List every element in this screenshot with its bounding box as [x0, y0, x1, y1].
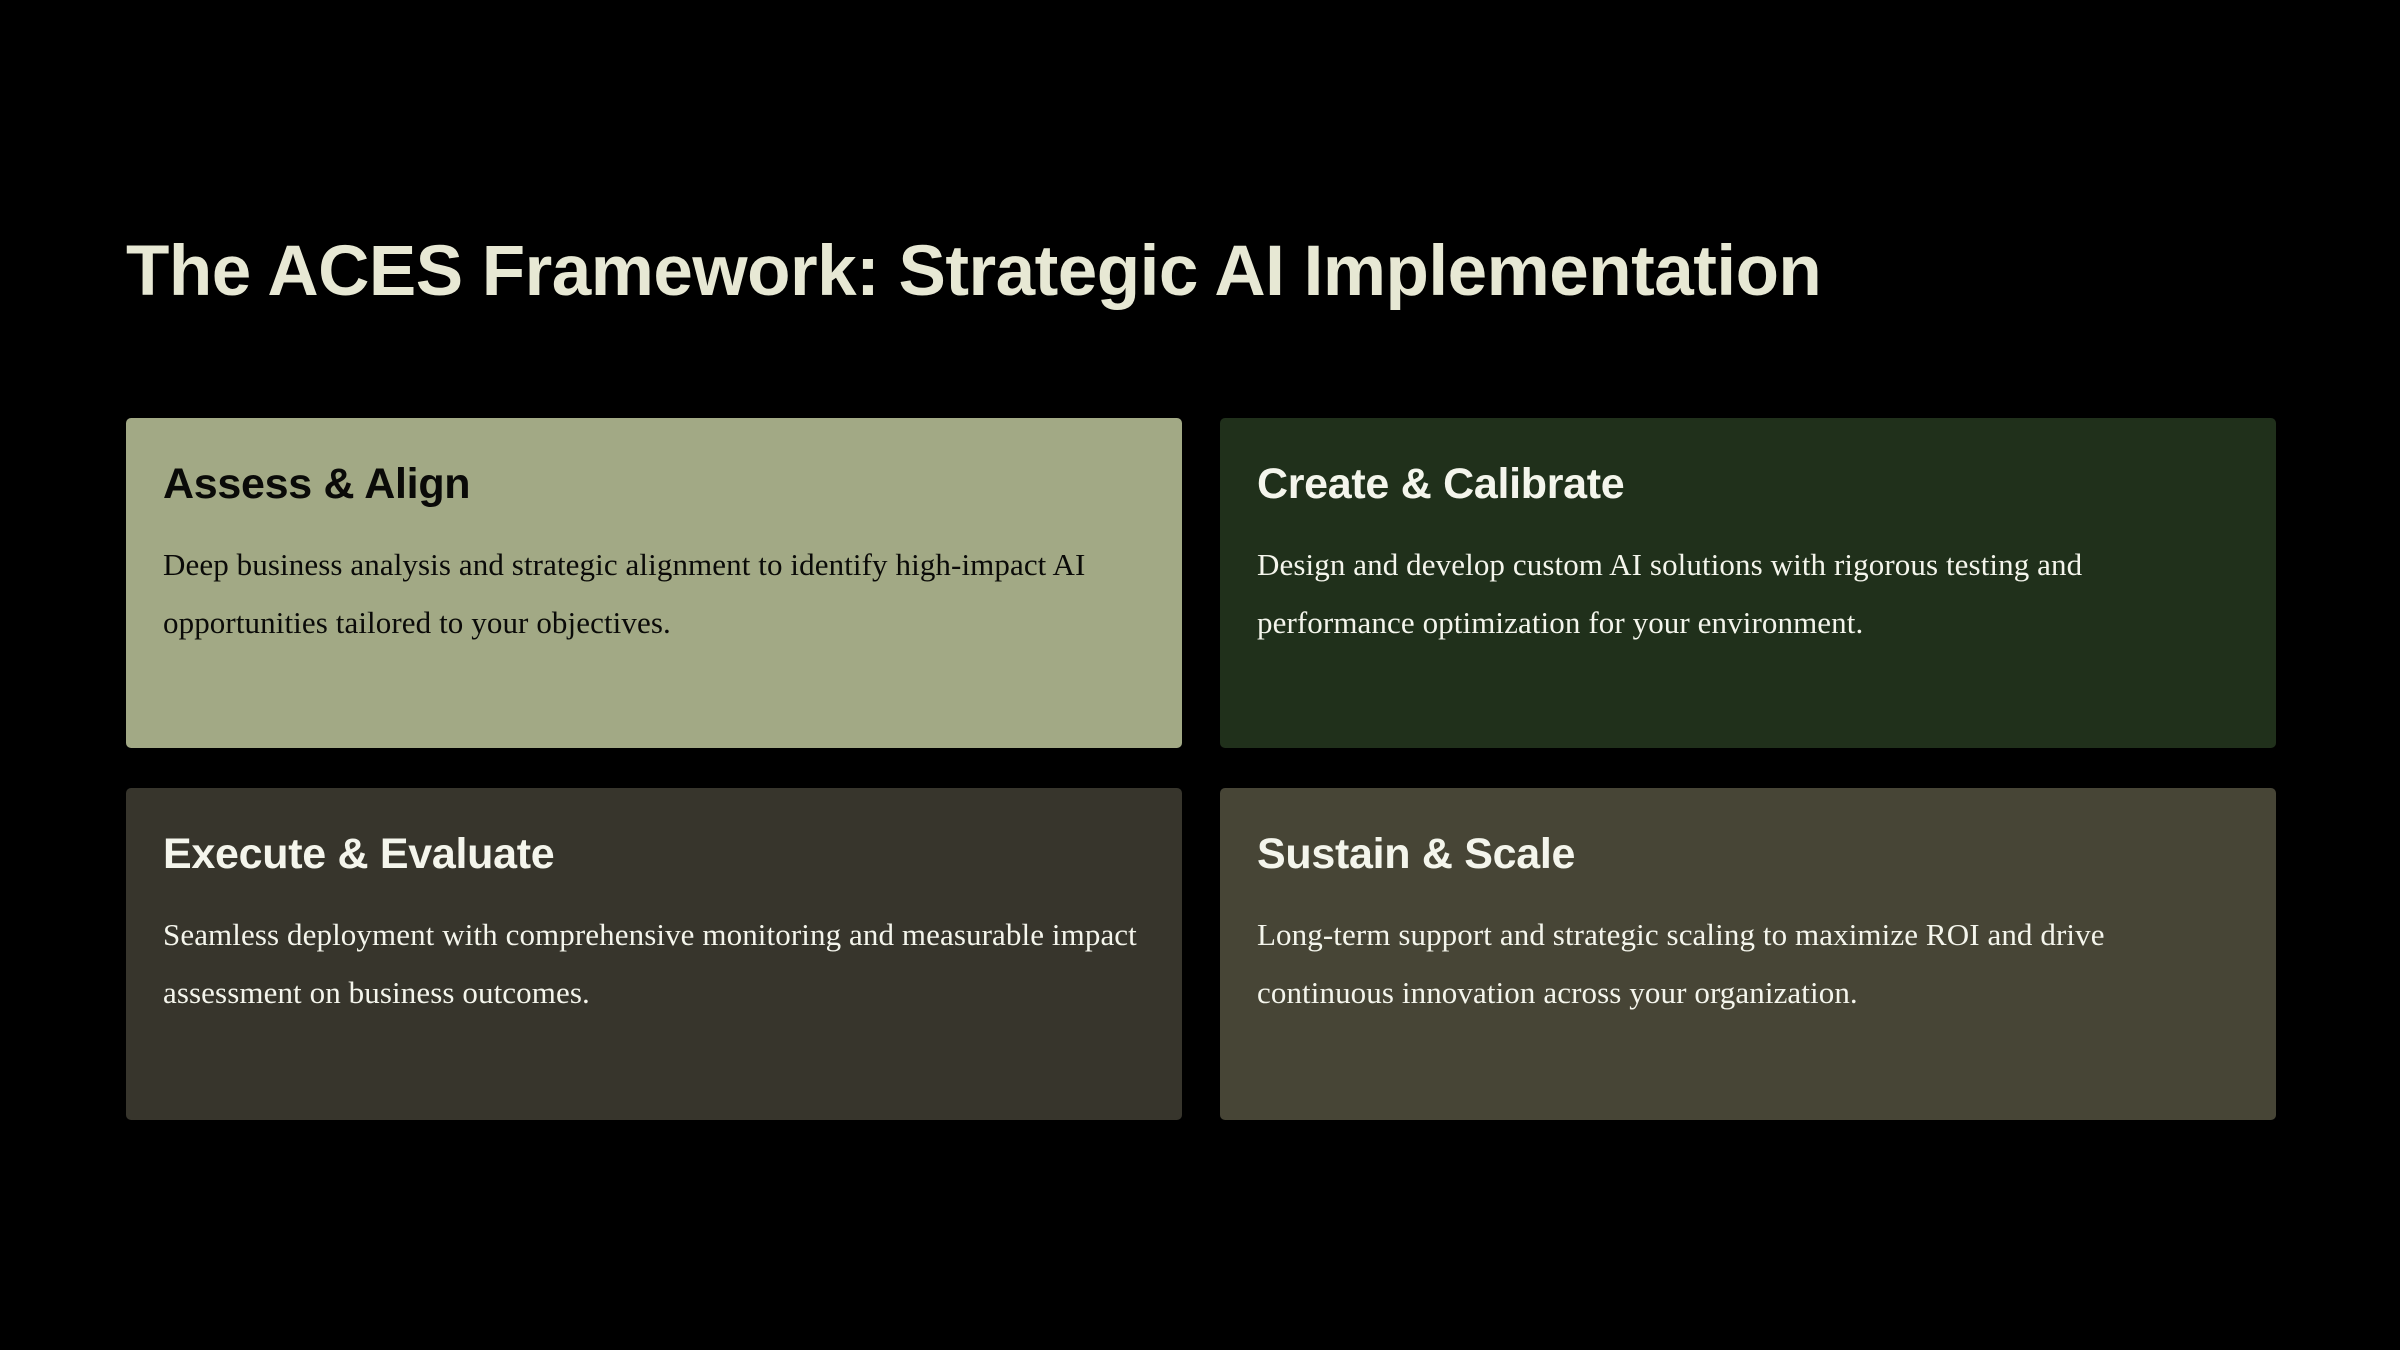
framework-card-grid: Assess & Align Deep business analysis an…: [126, 418, 2276, 1120]
framework-card-sustain-scale[interactable]: Sustain & Scale Long-term support and st…: [1220, 788, 2276, 1120]
card-heading-create-calibrate: Create & Calibrate: [1257, 460, 2236, 509]
framework-card-assess-align[interactable]: Assess & Align Deep business analysis an…: [126, 418, 1182, 748]
page-title: The ACES Framework: Strategic AI Impleme…: [126, 232, 2286, 312]
framework-card-create-calibrate[interactable]: Create & Calibrate Design and develop cu…: [1220, 418, 2276, 748]
card-body-create-calibrate: Design and develop custom AI solutions w…: [1257, 536, 2236, 652]
card-heading-assess-align: Assess & Align: [163, 460, 1142, 509]
card-heading-execute-evaluate: Execute & Evaluate: [163, 830, 1142, 879]
card-body-execute-evaluate: Seamless deployment with comprehensive m…: [163, 906, 1142, 1022]
slide-canvas: The ACES Framework: Strategic AI Impleme…: [0, 0, 2400, 1350]
card-heading-sustain-scale: Sustain & Scale: [1257, 830, 2236, 879]
framework-card-execute-evaluate[interactable]: Execute & Evaluate Seamless deployment w…: [126, 788, 1182, 1120]
card-body-assess-align: Deep business analysis and strategic ali…: [163, 536, 1142, 652]
card-body-sustain-scale: Long-term support and strategic scaling …: [1257, 906, 2236, 1022]
